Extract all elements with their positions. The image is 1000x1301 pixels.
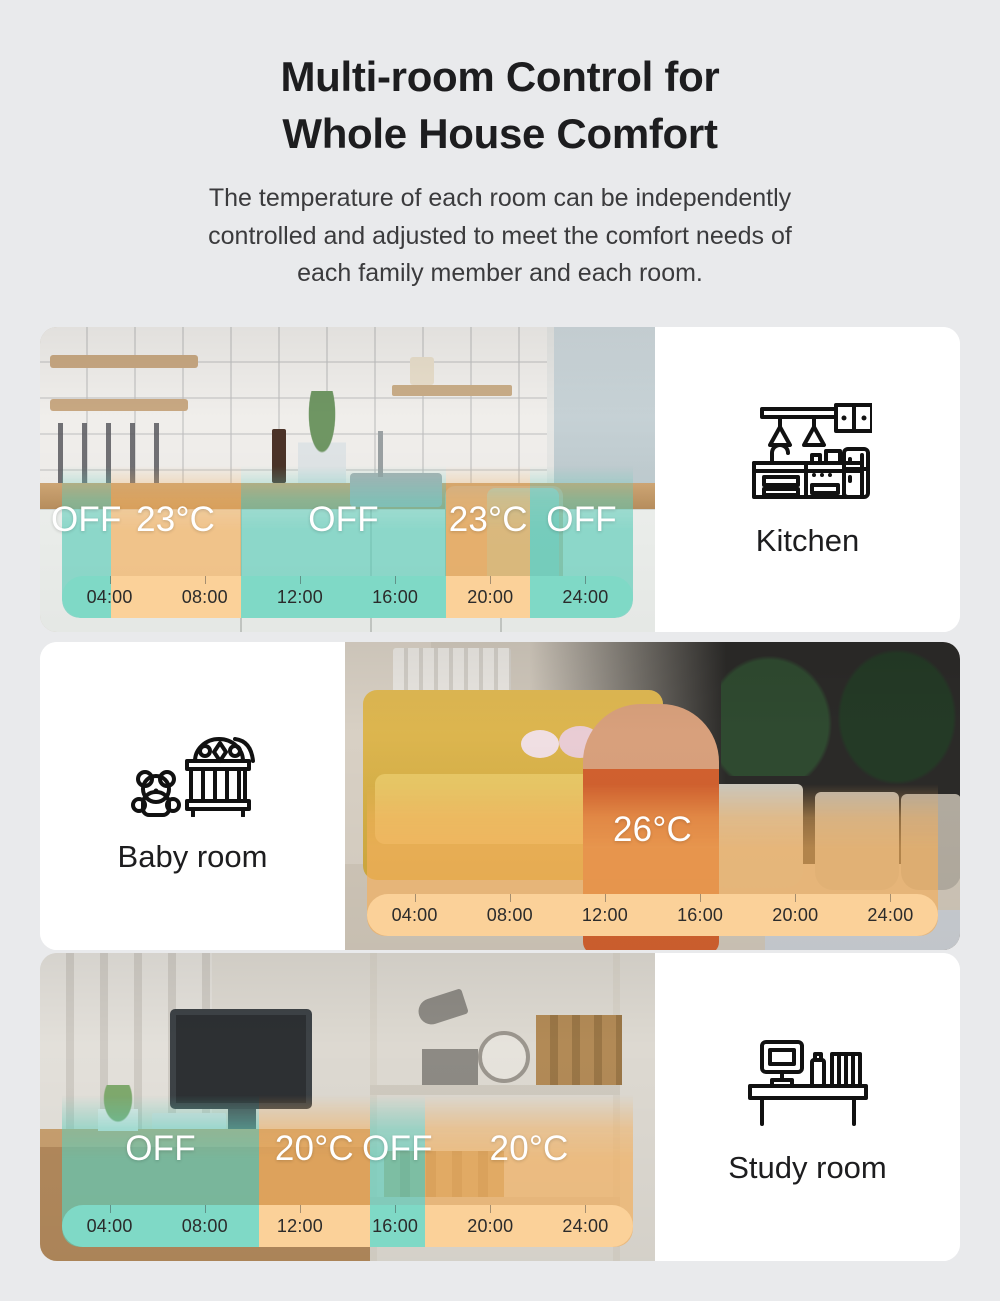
schedule-temp-label: 23°C (111, 492, 241, 548)
time-tick: 24:00 (843, 894, 938, 936)
room-name-study: Study room (728, 1150, 887, 1186)
time-tick-label: 04:00 (87, 1216, 133, 1237)
schedule-temp-label: OFF (62, 1121, 259, 1177)
schedule-temp-label: OFF (370, 1121, 425, 1177)
time-tick: 04:00 (62, 576, 157, 618)
time-tick: 24:00 (538, 1205, 633, 1247)
time-tick-label: 12:00 (277, 587, 323, 608)
room-card-study[interactable]: OFF20°COFF20°C 04:0008:0012:0016:0020:00… (40, 953, 960, 1261)
time-tick: 12:00 (557, 894, 652, 936)
time-tick-label: 08:00 (182, 1216, 228, 1237)
crib-icon (129, 717, 257, 817)
time-tick-label: 20:00 (467, 587, 513, 608)
schedule-overlay-baby: 26°C 04:0008:0012:0016:0020:0024:00 (367, 784, 938, 936)
schedule-temp-label: 20°C (259, 1121, 370, 1177)
room-card-kitchen[interactable]: OFF23°COFF23°COFF 04:0008:0012:0016:0020… (40, 327, 960, 632)
schedule-ticks-kitchen: 04:0008:0012:0016:0020:0024:00 (62, 576, 633, 618)
time-tick: 12:00 (252, 576, 347, 618)
time-tick: 04:00 (62, 1205, 157, 1247)
room-label-pane-study: Study room (655, 953, 960, 1261)
time-tick: 20:00 (748, 894, 843, 936)
time-tick-label: 04:00 (87, 587, 133, 608)
promo-page: Multi-room Control for Whole House Comfo… (0, 0, 1000, 1301)
page-subtitle-line-2: controlled and adjusted to meet the comf… (0, 218, 1000, 256)
schedule-temp-label: OFF (241, 492, 447, 548)
schedule-ticks-baby: 04:0008:0012:0016:0020:0024:00 (367, 894, 938, 936)
time-tick-label: 16:00 (372, 1216, 418, 1237)
room-photo-study: OFF20°COFF20°C 04:0008:0012:0016:0020:00… (40, 953, 655, 1261)
page-subtitle-line-3: each family member and each room. (0, 255, 1000, 293)
time-tick-label: 24:00 (562, 587, 608, 608)
time-tick-label: 08:00 (487, 905, 533, 926)
time-tick-label: 16:00 (677, 905, 723, 926)
schedule-ticks-study: 04:0008:0012:0016:0020:0024:00 (62, 1205, 633, 1247)
schedule-temp-label: OFF (62, 492, 111, 548)
time-tick-label: 12:00 (277, 1216, 323, 1237)
page-subtitle-line-1: The temperature of each room can be inde… (0, 180, 1000, 218)
time-tick-label: 20:00 (467, 1216, 513, 1237)
time-tick: 12:00 (252, 1205, 347, 1247)
schedule-temp-label: OFF (530, 492, 633, 548)
room-photo-kitchen: OFF23°COFF23°COFF 04:0008:0012:0016:0020… (40, 327, 655, 632)
schedule-temp-labels-kitchen: OFF23°COFF23°COFF (62, 492, 633, 548)
time-tick-label: 12:00 (582, 905, 628, 926)
time-tick-label: 16:00 (372, 587, 418, 608)
schedule-temp-labels-baby: 26°C (367, 802, 938, 858)
page-title-line-1: Multi-room Control for (0, 48, 1000, 105)
schedule-temp-labels-study: OFF20°COFF20°C (62, 1121, 633, 1177)
time-tick-label: 24:00 (867, 905, 913, 926)
schedule-temp-label: 20°C (425, 1121, 633, 1177)
room-name-baby: Baby room (118, 839, 268, 875)
time-tick: 08:00 (157, 576, 252, 618)
page-title: Multi-room Control for Whole House Comfo… (0, 48, 1000, 162)
time-tick-label: 24:00 (562, 1216, 608, 1237)
time-tick: 16:00 (348, 576, 443, 618)
time-tick: 16:00 (348, 1205, 443, 1247)
room-card-baby[interactable]: 26°C 04:0008:0012:0016:0020:0024:00 (40, 642, 960, 950)
time-tick-label: 08:00 (182, 587, 228, 608)
page-header: Multi-room Control for Whole House Comfo… (0, 0, 1000, 293)
room-label-pane-baby: Baby room (40, 642, 345, 950)
time-tick: 04:00 (367, 894, 462, 936)
schedule-overlay-study: OFF20°COFF20°C 04:0008:0012:0016:0020:00… (62, 1095, 633, 1247)
time-tick-label: 20:00 (772, 905, 818, 926)
schedule-temp-label: 26°C (367, 802, 938, 858)
room-photo-baby: 26°C 04:0008:0012:0016:0020:0024:00 (345, 642, 960, 950)
room-name-kitchen: Kitchen (756, 523, 859, 559)
page-title-line-2: Whole House Comfort (0, 105, 1000, 162)
time-tick: 20:00 (443, 1205, 538, 1247)
desk-icon (744, 1028, 872, 1128)
time-tick: 08:00 (462, 894, 557, 936)
schedule-overlay-kitchen: OFF23°COFF23°COFF 04:0008:0012:0016:0020… (62, 466, 633, 618)
time-tick: 24:00 (538, 576, 633, 618)
time-tick-label: 04:00 (392, 905, 438, 926)
time-tick: 08:00 (157, 1205, 252, 1247)
kitchen-icon (744, 401, 872, 501)
schedule-temp-label: 23°C (446, 492, 530, 548)
time-tick: 16:00 (653, 894, 748, 936)
time-tick: 20:00 (443, 576, 538, 618)
room-label-pane-kitchen: Kitchen (655, 327, 960, 632)
page-subtitle: The temperature of each room can be inde… (0, 180, 1000, 293)
